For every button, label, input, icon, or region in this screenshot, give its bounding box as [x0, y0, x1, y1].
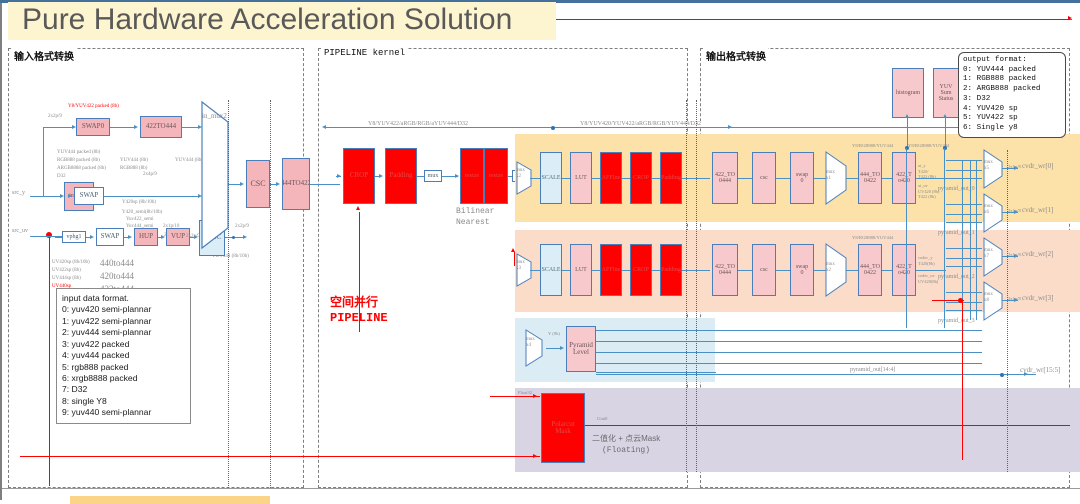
annotation-a8: YUV444 (8b)	[175, 158, 203, 163]
pyramid-bus-label: pyramid_out[14:4]	[848, 367, 897, 373]
block-row0-422to420: 422_T o420	[892, 152, 916, 204]
section-input-label: 输入格式转换	[12, 48, 76, 63]
block-row0-csc: csc	[752, 152, 776, 204]
wire-mux0-in-a	[946, 160, 982, 161]
output-label-bus: cvdr_wr[15:5]	[1020, 366, 1060, 374]
annotation-a5: D32	[57, 174, 66, 179]
block-row0-lut-label: LUT	[575, 175, 587, 181]
wire-fan-0	[716, 330, 982, 331]
block-padding-pre-label: Padding	[390, 172, 413, 179]
annotation-a10: Y420sp (8b/10b)	[122, 200, 156, 205]
wire-mux0-in-b	[946, 170, 982, 171]
annotation-a28: 2x2p/9	[186, 234, 200, 239]
legend-input-item-9: 9: yuv440 semi-plannar	[62, 407, 185, 418]
legend-input-item-0: 0: yuv420 semi-plannar	[62, 304, 185, 315]
mask-caption-cn: 二值化 + 点云Mask	[592, 433, 660, 444]
block-row1-crop: CROP	[630, 244, 652, 296]
wire-sync-mux-arrow	[243, 235, 247, 239]
block-row1-csc-label: csc	[760, 267, 768, 273]
wire-feedback-red-vert	[49, 236, 50, 486]
wire-mux1-in-a	[946, 204, 982, 205]
block-resize-bilinear: resize	[460, 148, 484, 204]
wire-row1-j	[846, 270, 858, 271]
block-row1-csc: csc	[752, 244, 776, 296]
block-swap0-label: SWAP0	[82, 123, 104, 130]
wire-mux-csc-arrow	[240, 182, 244, 186]
wire-mux0-in-c	[946, 178, 982, 179]
bus-width-3: 2x1p/8	[1008, 296, 1021, 301]
wire-vphg-swap-arrow	[90, 235, 94, 239]
block-swap-mid: SWAP	[74, 187, 104, 205]
bus-label-row1: Y8/RGB888/YUV444	[852, 235, 893, 240]
wire-row0-d	[622, 178, 630, 179]
legend-input-item-2: 2: yuv444 semi-plannar	[62, 327, 185, 338]
block-row0-422to444-label: 422_TO 0444	[715, 172, 735, 185]
mux-out-2-label: muxx7	[984, 248, 993, 259]
block-row0-444to422-label: 444_TO 0422	[860, 172, 880, 185]
wire-output-top-arrow	[728, 125, 732, 129]
wire-row0-g	[738, 178, 752, 179]
block-resize-bilinear-label: resize	[465, 173, 479, 179]
wire-to-swap0-arrow	[72, 125, 76, 129]
block-hup: HUP	[134, 228, 158, 246]
legend-output-item-3: 3: D32	[963, 95, 1061, 105]
wire-red-output-vert	[962, 300, 963, 460]
bus-label-row0: Y8/RGB888/YUV444	[852, 143, 893, 148]
bus-junction	[551, 126, 555, 130]
mux-row0-out-label: muxx1	[826, 170, 835, 181]
block-422to444: 422TO444	[140, 116, 182, 138]
bus-width-1: 2x1p/8	[1008, 208, 1021, 213]
wire-swap-hup-arrow	[128, 235, 132, 239]
bus-width-0: 2x1p/8	[1008, 164, 1021, 169]
annotation-a1: 2x2p/9	[48, 114, 62, 119]
mux-small-1-label: mux	[428, 173, 439, 179]
junction-pyramid-bus	[1000, 373, 1004, 377]
mask-caption-en: (Floating)	[602, 446, 650, 455]
block-row0-affine-label: AFFIne	[602, 175, 621, 181]
legend-input-item-7: 7: D32	[62, 384, 185, 395]
legend-input-item-5: 5: rgb888 packed	[62, 362, 185, 373]
wire-mux3-in-c	[946, 310, 982, 311]
annotation-a3: RGB888 packed (8b)	[57, 158, 100, 163]
block-swap-low-label: SWAP	[101, 233, 120, 240]
legend-output-format: output format: 0: YUV444 packed 1: RGB88…	[958, 52, 1066, 138]
legend-input-item-1: 1: yuv422 semi-plannar	[62, 316, 185, 327]
divider-dotted-2	[270, 100, 271, 488]
annotation-a7: RGB888 (8b)	[120, 166, 147, 171]
wire-mux2-in-c	[946, 266, 982, 267]
resize-caption-bilinear: Bilinear	[456, 207, 494, 216]
wire-pyramid-bus	[596, 374, 1036, 375]
divider-dotted-5	[1007, 150, 1008, 472]
annotation-a11: Y420_semi(8b/10b)	[122, 210, 162, 215]
wire-hup-vup-arrow	[161, 235, 165, 239]
wire-dmux-swap-arrow	[68, 194, 72, 198]
wire-row1-g	[738, 270, 752, 271]
block-histogram-label: histogram	[896, 90, 920, 96]
wire-mux-resize-arrow	[455, 174, 459, 178]
block-padding-pre: Padding	[385, 148, 417, 204]
block-histogram: histogram	[892, 68, 924, 118]
block-crop-pre-label: CROP	[350, 172, 368, 179]
wire-row0-k	[882, 178, 892, 179]
annotation-a21: UV444sp (8b)	[52, 276, 81, 281]
wire-mux2-in-a	[946, 248, 982, 249]
block-polarcut-mask-label: Polarcut Mask	[551, 421, 574, 436]
block-csc-input: CSC	[246, 160, 270, 208]
block-row1-affine: AFFIne	[600, 244, 622, 296]
wire-mux3-in-b	[946, 302, 982, 303]
annotation-a20: UV422sp (8b)	[52, 268, 81, 273]
legend-output-item-1: 1: RGB888 packed	[963, 75, 1061, 85]
wire-fan-3	[716, 363, 982, 364]
section-pipeline-label: PIPELINE kernel	[322, 48, 407, 58]
mask-output-type: Uint8	[597, 416, 607, 421]
block-resize-nearest: resize	[484, 148, 508, 204]
wire-row1-c	[592, 270, 600, 271]
wire-row0-e	[652, 178, 660, 179]
signal-label-3: codec_uv UV420(8b)	[918, 273, 938, 284]
junction-red-src-uv	[46, 232, 52, 238]
wire-swap-to-mux	[104, 196, 200, 197]
block-yuv-sum-status: YUV Sum Status	[933, 68, 959, 118]
block-row0-padding-label: Padding	[661, 175, 681, 181]
signal-label-1: ai_uv UV420 (8b) T422 (8b)	[918, 183, 939, 200]
mux-out-1-label: muxx6	[984, 204, 993, 215]
block-row0-422to420-label: 422_T o420	[896, 172, 912, 185]
wire-red-row1-arrow	[511, 248, 515, 252]
wire-dmux-up	[43, 127, 44, 196]
block-yuv-sum-status-label: YUV Sum Status	[939, 84, 954, 103]
mux-row1-in-label: muxx3	[516, 260, 525, 271]
signal-label-2: codec_y T420(8b)	[918, 255, 935, 266]
block-swap-low: SWAP	[96, 228, 124, 246]
annotation-a4: ARGB8888 packed (8b)	[57, 166, 106, 171]
block-row1-swap0-label: swap 0	[796, 264, 808, 277]
block-row0-422to444: 422_TO 0444	[712, 152, 738, 204]
output-label-0: cvdr_wr[0]	[1022, 162, 1054, 170]
wire-row0-j	[846, 178, 858, 179]
legend-output-item-0: 0: YUV444 packed	[963, 66, 1061, 76]
block-vphg1: vphg1	[62, 231, 86, 243]
bottom-accent-strip	[70, 496, 270, 504]
wire-pyramid-out-4	[596, 372, 716, 373]
wire-csc-444-arrow	[276, 182, 280, 186]
page-title: Pure Hardware Acceleration Solution	[22, 1, 552, 39]
wire-red-to-crop-arrow	[356, 206, 360, 210]
block-row1-padding: Padding	[660, 244, 682, 296]
block-vphg1-label: vphg1	[67, 234, 82, 240]
wire-crop-padding-arrow	[379, 174, 383, 178]
legend-input-item-6: 6: xrgb8888 packed	[62, 373, 185, 384]
legend-input-header: input data format.	[62, 293, 185, 304]
wire-mask-in-2	[20, 456, 540, 457]
block-row0-crop: CROP	[630, 152, 652, 204]
wire-mux1-in-c	[946, 222, 982, 223]
parallel-note-en: PIPELINE	[330, 311, 388, 325]
mux-out-0-label: muxx5	[984, 160, 993, 171]
block-row0-crop-label: CROP	[633, 175, 649, 181]
block-row1-scale-label: SCALE	[541, 267, 560, 273]
annotation-conv2: 420to444	[100, 271, 134, 281]
output-label-3: cvdr_wr[3]	[1022, 294, 1054, 302]
block-crop-pre: CROP	[343, 148, 375, 204]
block-row1-lut: LUT	[570, 244, 592, 296]
block-444to422-label: 444TO422	[282, 180, 310, 187]
legend-output-item-6: 6: Single y8	[963, 124, 1061, 134]
output-label-2: cvdr_wr[2]	[1022, 250, 1054, 258]
block-hup-label: HUP	[139, 233, 153, 240]
wire-row0-b	[562, 178, 570, 179]
wire-row0-a	[530, 178, 540, 179]
divider-dotted-4	[696, 100, 697, 472]
wire-pyramid-out-2	[596, 352, 716, 353]
wire-mask-in-1-arrow	[533, 394, 537, 398]
block-resize-nearest-label: resize	[489, 173, 503, 179]
block-row1-422to420: 422_T o420	[892, 244, 916, 296]
section-output-label: 输出格式转换	[704, 48, 768, 63]
wire-histogram-in-arrow	[905, 114, 909, 118]
block-422to444-label: 422TO444	[146, 123, 176, 130]
mux-row1-out-label: muxx2	[826, 262, 835, 273]
block-row0-swap0: swap 0	[790, 152, 814, 204]
block-row1-scale: SCALE	[540, 244, 562, 296]
divider-dotted-1	[228, 100, 229, 488]
wire-row1-k	[882, 270, 892, 271]
annotation-a9: 2x4p/9	[143, 172, 157, 177]
wire-row0-h	[776, 178, 790, 179]
block-row1-422to444-label: 422_TO 0444	[715, 264, 735, 277]
block-pyramid-level: Pyramid Level	[566, 326, 596, 372]
block-swap-mid-label: SWAP	[80, 192, 99, 199]
block-csc-input-label: CSC	[250, 180, 265, 188]
block-444to422: 444TO422	[282, 158, 310, 210]
block-row1-444to422-label: 444_TO 0422	[860, 264, 880, 277]
block-row1-444to422: 444_TO 0422	[858, 244, 882, 296]
block-row1-422to420-label: 422_T o420	[896, 264, 912, 277]
port-src-uv-label: src_uv	[12, 228, 28, 234]
wire-yuvsum-in	[945, 118, 946, 148]
diagram-canvas: Pure Hardware Acceleration Solution 输入格式…	[0, 0, 1080, 504]
mask-input-type: Float32	[518, 390, 532, 395]
block-row0-csc-label: csc	[760, 175, 768, 181]
wire-row1-e	[652, 270, 660, 271]
annotation-top-red: Y8/YUV422 packed (8b)	[68, 104, 119, 109]
wire-in-crop-arrow	[337, 174, 341, 178]
wire-row1-b	[562, 270, 570, 271]
legend-output-item-5: 5: YUV422 sp	[963, 114, 1061, 124]
mux-in-mux2-shape	[200, 100, 240, 250]
bus-vert-1	[906, 148, 907, 328]
annotation-a12: Yuv422_semi	[126, 217, 154, 222]
block-pyramid-level-label: Pyramid Level	[569, 342, 593, 357]
wire-444-out	[310, 184, 340, 185]
legend-input-item-3: 3: yuv422 packed	[62, 339, 185, 350]
block-row0-444to422: 444_TO 0422	[858, 152, 882, 204]
block-row1-lut-label: LUT	[575, 267, 587, 273]
block-row1-422to444: 422_TO 0444	[712, 244, 738, 296]
wire-row1-l	[916, 270, 946, 271]
wire-pyramid-in-arrow	[560, 346, 564, 350]
wire-pyramid-out-1	[596, 341, 716, 342]
bottom-rule	[2, 488, 1080, 489]
wire-mux2-in-b	[946, 258, 982, 259]
annotation-conv1: 440to444	[100, 258, 134, 268]
block-vup-label: VUP	[171, 233, 185, 240]
mux-in-mux2-label: in_mux2	[202, 112, 227, 120]
wire-mux1-in-b	[946, 214, 982, 215]
wire-row0-c	[592, 178, 600, 179]
wire-fan-1	[716, 341, 982, 342]
mux-pyramid-label: muxx4	[526, 337, 535, 348]
block-row0-affine: AFFIne	[600, 152, 622, 204]
mux-row0-in-label: muxx2	[516, 168, 525, 179]
bus-vert-3	[962, 160, 963, 320]
wire-swap0-arrow	[134, 125, 138, 129]
wire-to-swap0	[43, 127, 74, 128]
block-swap0: SWAP0	[76, 118, 110, 136]
pyramid-signal-label: Y (8b)	[548, 331, 560, 336]
wire-mask-out	[585, 425, 1070, 426]
wire-mask-in-2-arrow	[533, 454, 537, 458]
legend-input-format: input data format. 0: yuv420 semi-planna…	[56, 288, 191, 424]
parallel-note-cn: 空间并行	[330, 293, 378, 310]
wire-src-y	[30, 196, 62, 197]
annotation-a19: UV420sp (8b/10b)	[52, 260, 90, 265]
legend-input-item-4: 4: yuv444 packed	[62, 350, 185, 361]
wire-row1-d	[622, 270, 630, 271]
title-red-line	[556, 19, 1070, 20]
bus-label-left: Y8/YUV422/aRGB/RGB/aYUV444/D32	[366, 121, 470, 127]
block-row0-swap0-label: swap 0	[796, 172, 808, 185]
wire-yuvsum-in-arrow	[943, 114, 947, 118]
annotation-a6: YUV444 (8b)	[120, 158, 148, 163]
mux-pyramid-shape	[524, 328, 546, 368]
left-border-rule	[0, 3, 2, 500]
output-label-1: cvdr_wr[1]	[1022, 206, 1054, 214]
block-row0-scale-label: SCALE	[541, 175, 560, 181]
block-row0-padding: Padding	[660, 152, 682, 204]
block-row1-affine-label: AFFIne	[602, 267, 621, 273]
bus-wire-left-arrow	[322, 125, 326, 129]
block-row1-crop-label: CROP	[633, 267, 649, 273]
wire-red-row1	[514, 252, 515, 266]
mux-small-1: mux	[424, 170, 442, 182]
block-row1-padding-label: Padding	[661, 267, 681, 273]
bus-width-2: 2x1p/8	[1008, 252, 1021, 257]
legend-output-item-4: 4: YUV420 sp	[963, 105, 1061, 115]
bus-vert-5	[976, 160, 977, 320]
port-src-y-label: src_y	[12, 190, 25, 196]
wire-row1-i	[814, 270, 826, 271]
bus-vert-2	[944, 148, 945, 328]
wire-row1-a	[530, 270, 540, 271]
wire-pyramid-out-0	[596, 330, 716, 331]
wire-mux3-in-a	[946, 292, 982, 293]
wire-resize-mux	[508, 176, 512, 177]
signal-label-0: ai_y T420/ T422 (8b)	[918, 163, 936, 180]
wire-pyramid-out-3	[596, 363, 716, 364]
wire-swap0-to-422	[110, 127, 136, 128]
mux-out-3-label: muxx8	[984, 292, 993, 303]
legend-output-header: output format:	[963, 56, 1061, 66]
block-row0-lut: LUT	[570, 152, 592, 204]
wire-row1-h	[776, 270, 790, 271]
legend-input-item-8: 8: single Y8	[62, 396, 185, 407]
wire-uv-vphg	[55, 237, 63, 238]
band-row-mask	[515, 388, 1080, 472]
wire-row0-i	[814, 178, 826, 179]
block-row1-swap0: swap 0	[790, 244, 814, 296]
legend-output-item-2: 2: ARGB888 packed	[963, 85, 1061, 95]
wire-histogram-in	[907, 118, 908, 148]
divider-dotted-3	[686, 100, 687, 472]
block-polarcut-mask: Polarcut Mask	[541, 393, 585, 463]
bus-label-right: Y8/YUV420/YUV422/aRGB/RGB/YUV444/D32	[578, 121, 703, 127]
resize-caption-nearest: Nearest	[456, 218, 490, 227]
annotation-a2: YUV444 packed (8b)	[57, 150, 100, 155]
wire-fan-2	[716, 352, 982, 353]
block-row0-scale: SCALE	[540, 152, 562, 204]
junction-red-output	[958, 298, 963, 303]
bus-vert-4	[970, 160, 971, 320]
